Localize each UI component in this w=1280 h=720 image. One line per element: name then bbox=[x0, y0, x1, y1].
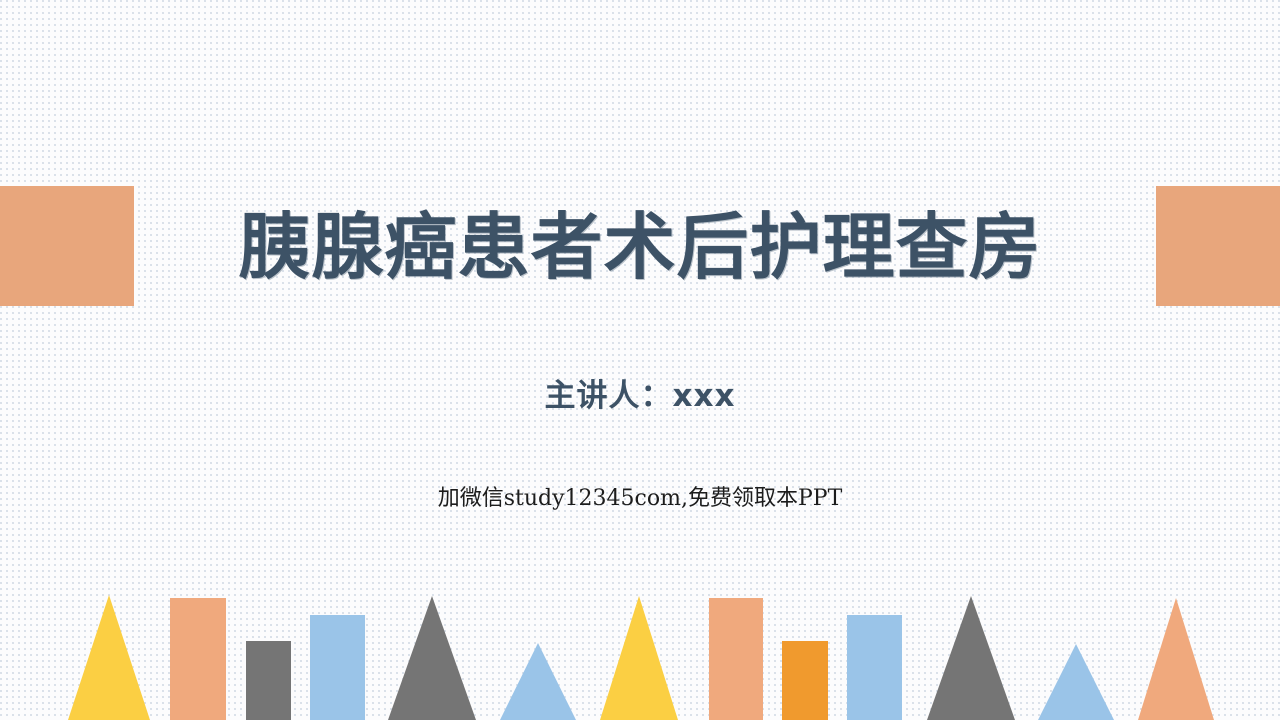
note-container: 加微信study12345com,免费领取本PPT bbox=[0, 480, 1280, 512]
rect-orange-1 bbox=[782, 641, 828, 720]
triangle-yellow-1 bbox=[68, 595, 150, 720]
presenter-subtitle: 主讲人：xxx bbox=[0, 378, 1280, 415]
rect-gray-1 bbox=[246, 641, 291, 720]
bottom-decoration-band bbox=[0, 586, 1280, 720]
subtitle-container: 主讲人：xxx bbox=[0, 378, 1280, 415]
rect-blue-2 bbox=[847, 615, 902, 720]
presentation-title-slide: 胰腺癌患者术后护理查房 主讲人：xxx 加微信study12345com,免费领… bbox=[0, 0, 1280, 720]
rect-blue-1 bbox=[310, 615, 365, 720]
triangle-gray-1 bbox=[388, 596, 476, 720]
promo-note: 加微信study12345com,免费领取本PPT bbox=[0, 480, 1280, 512]
triangle-salmon-1 bbox=[1138, 598, 1214, 720]
triangle-gray-2 bbox=[927, 596, 1015, 720]
page-title: 胰腺癌患者术后护理查房 bbox=[238, 211, 1041, 283]
rect-salmon-2 bbox=[709, 598, 763, 720]
triangle-yellow-2 bbox=[600, 596, 678, 720]
title-container: 胰腺癌患者术后护理查房 bbox=[0, 186, 1280, 308]
triangle-blue-1 bbox=[500, 643, 576, 720]
rect-salmon-1 bbox=[170, 598, 226, 720]
triangle-blue-2 bbox=[1038, 644, 1114, 720]
